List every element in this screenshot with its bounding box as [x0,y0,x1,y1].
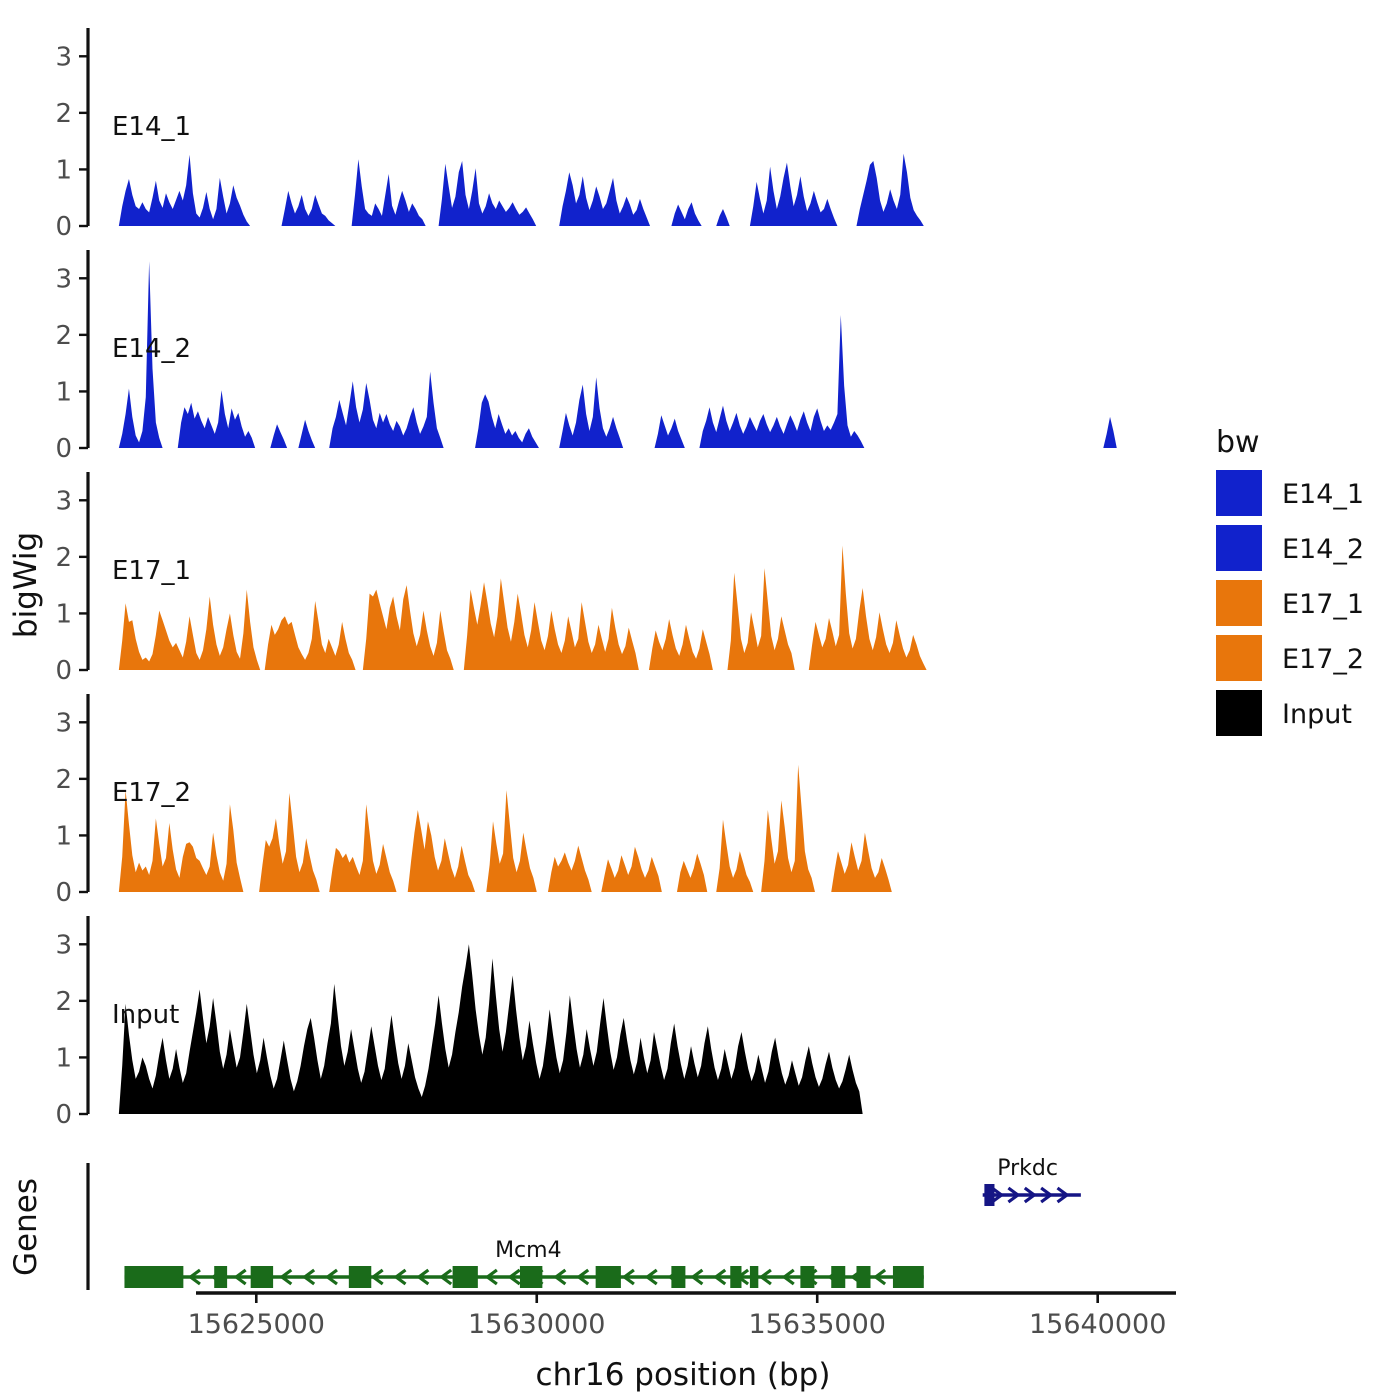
legend-label-e14_1: E14_1 [1282,479,1364,510]
gene-exon-mcm4-1 [214,1266,227,1288]
signal-area-e14_1-5 [671,202,701,226]
legend-swatch-e17_2 [1216,635,1262,681]
y-tick-label-e17_1-1: 1 [55,599,72,629]
y-tick-label-e17_2-1: 1 [55,821,72,851]
signal-area-e14_1-3 [439,161,537,226]
track-panel-input: 0123Input [55,916,862,1130]
track-panel-e14_2: 0123E14_2 [55,250,1116,464]
signal-area-e17_1-4 [649,619,713,670]
signal-area-e14_1-7 [750,163,838,226]
signal-area-e14_2-3 [298,420,315,448]
signal-area-e14_1-8 [856,154,923,226]
signal-area-e17_1-6 [809,546,927,670]
signal-area-e17_2-5 [548,846,592,892]
signal-area-e17_2-10 [831,833,892,892]
legend-swatch-e14_2 [1216,525,1262,571]
genome-browser-figure: 0123E14_10123E14_20123E17_10123E17_20123… [0,0,1400,1400]
legend: bwE14_1E14_2E17_1E17_2Input [1216,425,1364,736]
x-axis: 15625000156300001563500015640000chr16 po… [188,1293,1176,1393]
y-tick-label-e14_1-0: 0 [55,212,72,242]
legend-item-e14_2[interactable]: E14_2 [1216,525,1364,571]
y-tick-label-e17_1-3: 3 [55,486,72,516]
gene-exon-mcm4-3 [349,1266,371,1288]
gene-feature-prkdc[interactable]: Prkdc [983,1156,1081,1206]
figure-canvas: 0123E14_10123E14_20123E17_10123E17_20123… [0,0,1400,1400]
y-axis-title: bigWig [8,532,44,638]
gene-exon-mcm4-13 [893,1266,924,1288]
signal-area-e14_2-9 [1103,417,1116,448]
gene-name-label-prkdc: Prkdc [997,1156,1058,1181]
y-tick-label-e14_2-1: 1 [55,377,72,407]
signal-area-e17_1-5 [727,568,794,670]
signal-area-e17_2-6 [601,847,662,892]
legend-item-e14_1[interactable]: E14_1 [1216,470,1364,516]
legend-label-e17_2: E17_2 [1282,644,1364,675]
x-tick-label-15640000: 15640000 [1029,1309,1166,1340]
y-tick-label-e17_2-3: 3 [55,708,72,738]
legend-swatch-e17_1 [1216,580,1262,626]
x-tick-label-15630000: 15630000 [468,1309,605,1340]
y-tick-label-e14_1-1: 1 [55,155,72,185]
legend-label-input: Input [1282,699,1352,730]
track-label-e17_2: E17_2 [112,778,191,808]
gene-name-label-mcm4: Mcm4 [495,1238,562,1263]
signal-area-e14_2-2 [270,424,287,448]
legend-swatch-input [1216,690,1262,736]
gene-exon-mcm4-2 [251,1266,273,1288]
signal-area-e17_2-4 [486,790,536,892]
y-tick-label-e14_2-0: 0 [55,434,72,464]
signal-area-e14_2-4 [329,372,443,448]
x-tick-label-15635000: 15635000 [749,1309,886,1340]
signal-area-e17_1-1 [265,601,356,670]
legend-title: bw [1216,425,1260,460]
x-tick-label-15625000: 15625000 [188,1309,325,1340]
signal-area-e14_1-2 [352,159,426,226]
y-tick-label-e17_2-0: 0 [55,878,72,908]
gene-exon-mcm4-4 [453,1266,478,1288]
signal-area-e14_2-1 [178,390,255,448]
signal-area-e17_2-7 [677,854,707,892]
track-label-e14_2: E14_2 [112,334,191,364]
signal-area-e17_1-2 [363,585,454,670]
genes-axis-title-text: Genes [8,1178,44,1276]
signal-area-e17_2-3 [408,810,475,892]
signal-area-input-0 [119,944,863,1114]
signal-area-e14_2-7 [655,415,685,448]
gene-feature-mcm4[interactable]: Mcm4 [124,1238,923,1288]
y-axis-title-text: bigWig [8,532,44,638]
signal-area-e14_1-1 [282,191,336,226]
signal-area-e17_2-1 [259,793,320,892]
gene-exon-mcm4-0 [124,1266,183,1288]
gene-exon-mcm4-8 [730,1266,741,1288]
signal-area-e17_2-2 [329,804,396,892]
gene-exon-mcm4-10 [800,1266,814,1288]
y-tick-label-input-3: 3 [55,930,72,960]
track-panel-e17_1: 0123E17_1 [55,472,926,686]
legend-item-e17_1[interactable]: E17_1 [1216,580,1364,626]
gene-exon-mcm4-7 [671,1266,685,1288]
track-label-e17_1: E17_1 [112,556,191,586]
signal-area-e17_1-3 [464,578,639,670]
y-tick-label-e17_1-2: 2 [55,543,72,573]
gene-exon-mcm4-6 [596,1266,621,1288]
legend-label-e17_1: E17_1 [1282,589,1364,620]
track-panel-e17_2: 0123E17_2 [55,694,891,908]
signal-area-e17_2-8 [716,820,753,892]
track-label-e14_1: E14_1 [112,112,191,142]
y-tick-label-e14_2-3: 3 [55,264,72,294]
legend-swatch-e14_1 [1216,470,1262,516]
signal-area-e14_2-8 [699,315,864,448]
y-tick-label-input-0: 0 [55,1100,72,1130]
track-label-input: Input [112,1000,179,1030]
signal-area-e14_1-0 [119,155,250,226]
y-tick-label-input-2: 2 [55,987,72,1017]
track-panel-e14_1: 0123E14_1 [55,28,923,242]
gene-exon-mcm4-5 [520,1266,542,1288]
legend-label-e14_2: E14_2 [1282,534,1364,565]
signal-area-e17_2-9 [761,765,815,892]
y-tick-label-e14_2-2: 2 [55,321,72,351]
signal-area-e14_1-6 [716,209,729,226]
y-tick-label-input-1: 1 [55,1043,72,1073]
y-tick-label-e17_1-0: 0 [55,656,72,686]
gene-exon-mcm4-11 [831,1266,845,1288]
genes-panel: GenesPrkdcMcm4 [8,1156,1081,1290]
legend-item-e17_2[interactable]: E17_2 [1216,635,1364,681]
gene-exon-mcm4-12 [856,1266,870,1288]
signal-area-e14_2-6 [559,377,623,448]
y-tick-label-e14_1-2: 2 [55,99,72,129]
signal-area-e17_1-0 [119,590,260,670]
y-tick-label-e14_1-3: 3 [55,42,72,72]
signal-area-e14_1-4 [559,172,650,226]
gene-exon-prkdc-0 [984,1184,994,1206]
legend-item-input[interactable]: Input [1216,690,1352,736]
x-axis-title-text: chr16 position (bp) [536,1357,831,1393]
signal-area-e14_2-5 [475,394,539,448]
gene-exon-mcm4-9 [750,1266,758,1288]
y-tick-label-e17_2-2: 2 [55,765,72,795]
